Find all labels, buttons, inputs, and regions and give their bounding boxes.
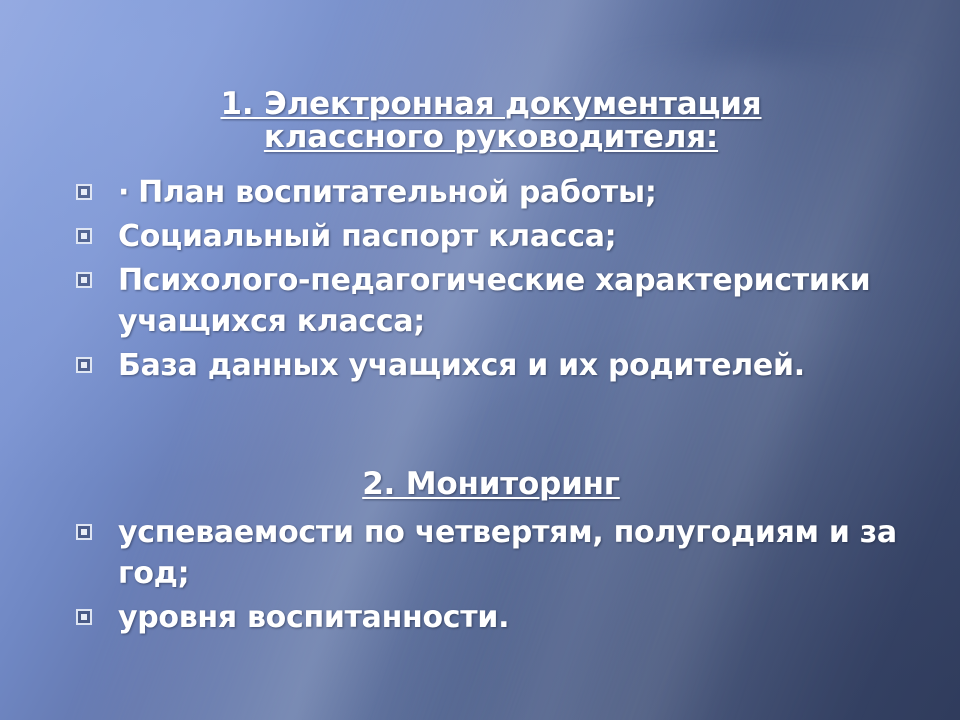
square-bullet-icon [76, 357, 92, 373]
list-item-label: Психолого-педагогические характеристики … [118, 263, 870, 339]
section-heading-2: 2. Мониторинг [96, 468, 886, 501]
list-item[interactable]: ·План воспитательной работы; [0, 172, 960, 213]
list-item-label: уровня воспитанности. [118, 600, 509, 635]
list-item-label: План воспитательной работы; [138, 175, 656, 210]
section-heading-2-line-1: 2. Мониторинг [362, 466, 620, 502]
square-bullet-icon [76, 184, 92, 200]
list-item[interactable]: уровня воспитанности. [0, 597, 960, 638]
list-item-label: успеваемости по четвертям, полугодиям и … [118, 515, 897, 591]
list-item[interactable]: Психолого-педагогические характеристики … [0, 260, 960, 342]
section-heading-1-line-1: 1. Электронная документация [220, 86, 761, 122]
square-bullet-icon [76, 228, 92, 244]
list-item[interactable]: успеваемости по четвертям, полугодиям и … [0, 512, 960, 594]
section-heading-1: 1. Электронная документация классного ру… [96, 88, 886, 154]
list-item[interactable]: База данных учащихся и их родителей. [0, 345, 960, 386]
slide-content: 1. Электронная документация классного ру… [0, 0, 960, 720]
square-bullet-icon [76, 524, 92, 540]
list-item[interactable]: Социальный паспорт класса; [0, 216, 960, 257]
list-item-label: База данных учащихся и их родителей. [118, 348, 805, 383]
square-bullet-icon [76, 272, 92, 288]
bullet-list-1: ·План воспитательной работы; Социальный … [0, 172, 960, 389]
presentation-slide: 1. Электронная документация классного ру… [0, 0, 960, 720]
section-heading-1-line-2: классного руководителя: [264, 119, 718, 155]
square-bullet-icon [76, 609, 92, 625]
list-item-label: Социальный паспорт класса; [118, 219, 616, 254]
list-item-lead-dot: · [118, 175, 129, 210]
bullet-list-2: успеваемости по четвертям, полугодиям и … [0, 512, 960, 641]
